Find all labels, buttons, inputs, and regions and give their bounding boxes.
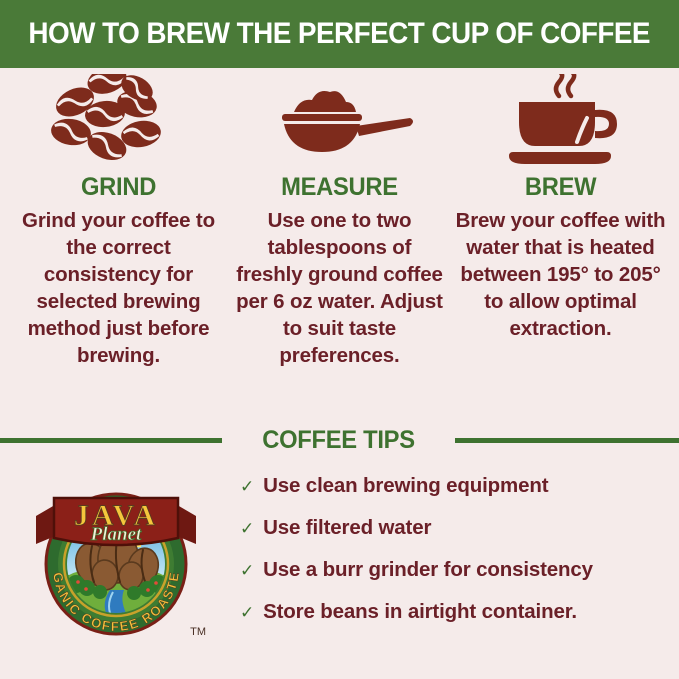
tip-text: Store beans in airtight container. [263, 600, 577, 624]
step-brew: BREW Brew your coffee with water that is… [450, 74, 671, 369]
tips-section: ORGANIC COFFEE ROASTERS JAVA Planet TM ✓… [0, 466, 679, 679]
coffee-tips-title: COFFEE TIPS [228, 428, 449, 453]
page-title: HOW TO BREW THE PERFECT CUP OF COFFEE [29, 19, 651, 49]
divider-left [0, 438, 222, 443]
brand-logo-area: ORGANIC COFFEE ROASTERS JAVA Planet TM [0, 466, 232, 679]
header-banner: HOW TO BREW THE PERFECT CUP OF COFFEE [0, 0, 679, 68]
check-icon: ✓ [240, 562, 254, 579]
measuring-spoon-icon [260, 74, 420, 170]
step-title-measure: MEASURE [281, 174, 398, 202]
list-item: ✓ Use a burr grinder for consistency [240, 558, 679, 582]
list-item: ✓ Use filtered water [240, 516, 679, 540]
tips-list: ✓ Use clean brewing equipment ✓ Use filt… [232, 466, 679, 679]
check-icon: ✓ [240, 604, 254, 621]
tip-text: Use a burr grinder for consistency [263, 558, 593, 582]
tip-text: Use clean brewing equipment [263, 474, 548, 498]
divider-right [455, 438, 679, 443]
step-body-brew: Brew your coffee with water that is heat… [450, 207, 671, 342]
infographic-page: HOW TO BREW THE PERFECT CUP OF COFFEE [0, 0, 679, 679]
list-item: ✓ Use clean brewing equipment [240, 474, 679, 498]
list-item: ✓ Store beans in airtight container. [240, 600, 679, 624]
java-planet-logo: ORGANIC COFFEE ROASTERS JAVA Planet TM [30, 472, 202, 644]
steps-row: GRIND Grind your coffee to the correct c… [0, 74, 679, 369]
step-title-brew: BREW [525, 174, 596, 202]
step-body-grind: Grind your coffee to the correct consist… [8, 207, 229, 369]
check-icon: ✓ [240, 520, 254, 537]
step-body-measure: Use one to two tablespoons of freshly gr… [229, 207, 450, 369]
coffee-tips-header: COFFEE TIPS [0, 420, 679, 460]
step-grind: GRIND Grind your coffee to the correct c… [8, 74, 229, 369]
coffee-beans-icon [49, 74, 189, 170]
step-title-grind: GRIND [81, 174, 156, 202]
trademark-mark: TM [190, 626, 206, 638]
tip-text: Use filtered water [263, 516, 431, 540]
coffee-cup-steam-icon [491, 74, 631, 170]
step-measure: MEASURE Use one to two tablespoons of fr… [229, 74, 450, 369]
logo-brand-script: Planet [90, 524, 142, 545]
check-icon: ✓ [240, 478, 254, 495]
